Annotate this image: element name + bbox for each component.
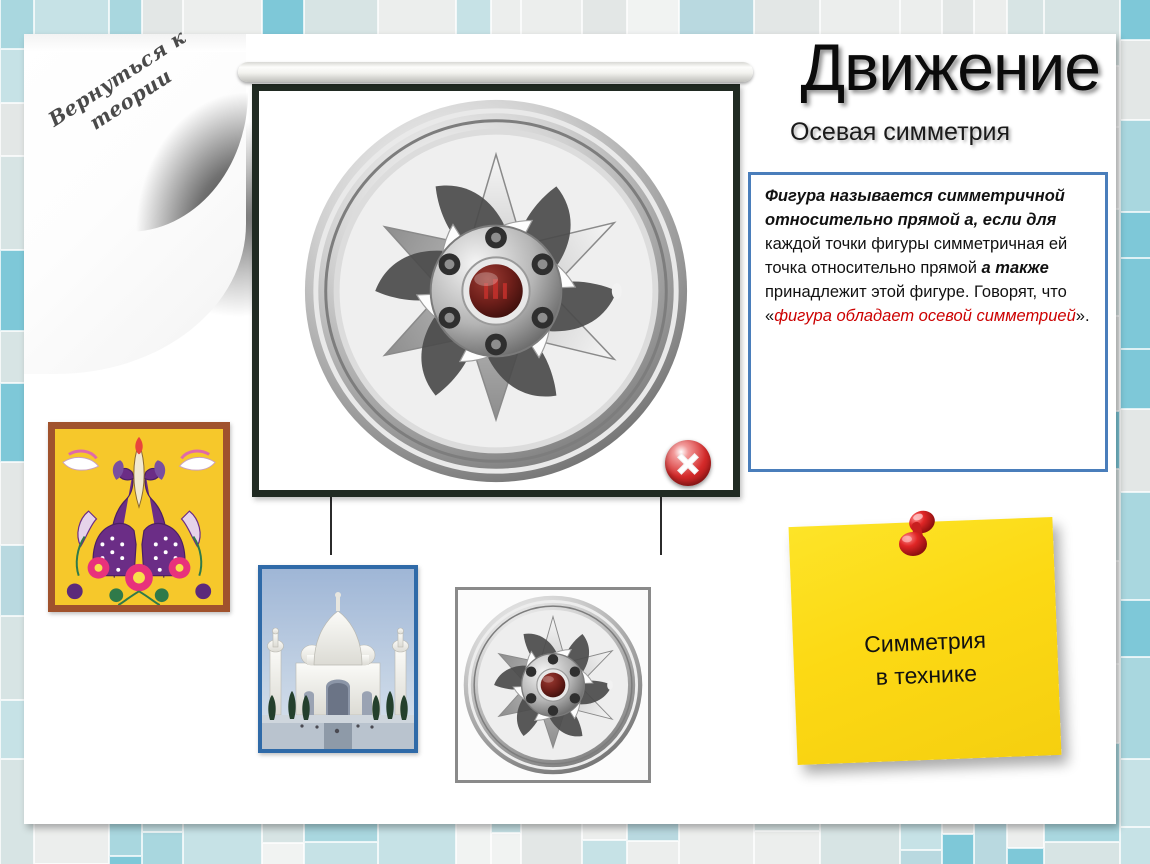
background-tile xyxy=(1120,120,1150,212)
wheel-graphic xyxy=(298,93,694,489)
background-tile xyxy=(109,856,142,864)
background-tile-column xyxy=(1120,0,1150,864)
background-tile xyxy=(1120,40,1150,120)
embroidery-graphic xyxy=(55,429,223,605)
background-tile xyxy=(304,842,378,864)
background-tile xyxy=(1044,842,1120,864)
sticky-note[interactable]: Симметрия в технике xyxy=(793,508,1073,778)
projector-leg-right xyxy=(660,497,662,555)
background-tile xyxy=(1120,258,1150,349)
background-tile xyxy=(1120,600,1150,657)
background-tile xyxy=(754,831,820,864)
x-glyph xyxy=(673,448,703,478)
red-pushpin-icon xyxy=(894,508,940,564)
thumbnail-folk-embroidery[interactable] xyxy=(48,422,230,612)
definition-part-6: ». xyxy=(1076,307,1090,325)
sticky-note-text: Симметрия в технике xyxy=(793,621,1059,698)
background-tile xyxy=(1120,492,1150,600)
alloy-wheel-image-large xyxy=(259,91,733,490)
taj-mahal-graphic xyxy=(262,569,414,749)
background-tile xyxy=(1120,827,1150,864)
projector-roller-bar xyxy=(238,62,753,82)
background-tile xyxy=(1120,0,1150,40)
background-tile xyxy=(679,820,754,864)
background-tile xyxy=(942,834,974,864)
thumbnail-taj-mahal[interactable] xyxy=(258,565,418,753)
page-subtitle: Осевая симметрия xyxy=(700,118,1100,147)
close-x-icon[interactable] xyxy=(665,440,711,486)
background-tile xyxy=(491,833,521,864)
definition-part-1: Фигура называется симметричной относител… xyxy=(765,187,1065,229)
projector-screen xyxy=(252,84,740,497)
background-tile xyxy=(1120,349,1150,409)
background-tile xyxy=(1120,759,1150,827)
definition-part-5-highlight: фигура обладает осевой симметрией xyxy=(774,307,1076,325)
wheel-graphic-small xyxy=(458,590,648,780)
definition-part-3: a также xyxy=(982,259,1049,277)
background-tile xyxy=(1120,657,1150,759)
background-tile xyxy=(627,841,679,864)
background-tile xyxy=(582,840,627,864)
background-tile xyxy=(1007,848,1044,864)
definition-box: Фигура называется симметричной относител… xyxy=(748,172,1108,472)
background-tile xyxy=(900,850,942,864)
projector-leg-left xyxy=(330,497,332,555)
thumbnail-alloy-wheel[interactable] xyxy=(455,587,651,783)
page-title: Движение xyxy=(770,34,1100,100)
background-tile xyxy=(262,843,304,864)
background-tile xyxy=(1120,409,1150,492)
background-tile xyxy=(142,832,183,864)
background-tile xyxy=(1120,212,1150,258)
